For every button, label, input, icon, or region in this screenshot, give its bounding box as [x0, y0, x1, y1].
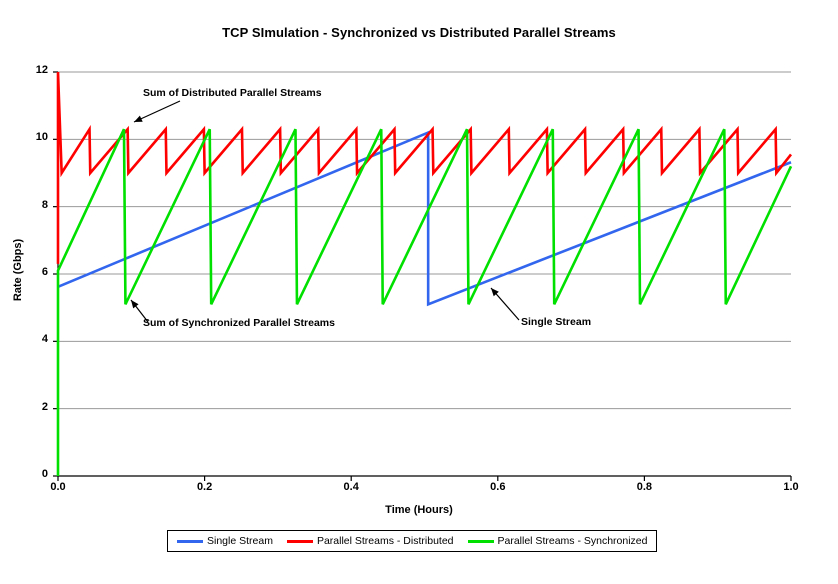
annotation-arrows: [131, 101, 519, 322]
legend-item[interactable]: Parallel Streams - Synchronized: [468, 535, 648, 547]
legend-item[interactable]: Parallel Streams - Distributed: [287, 535, 454, 547]
plot-area: [0, 0, 838, 584]
annotation-distributed: Sum of Distributed Parallel Streams: [143, 87, 322, 99]
arrow-single-stream: [491, 288, 519, 320]
legend-label: Parallel Streams - Synchronized: [498, 535, 648, 547]
annotation-single-stream: Single Stream: [521, 316, 591, 328]
legend-swatch: [177, 540, 203, 543]
arrow-distributed: [134, 101, 180, 122]
chart-root: TCP SImulation - Synchronized vs Distrib…: [0, 0, 838, 584]
chart-legend: Single StreamParallel Streams - Distribu…: [167, 530, 657, 552]
legend-label: Single Stream: [207, 535, 273, 547]
legend-swatch: [287, 540, 313, 543]
series-line: [58, 72, 791, 264]
legend-label: Parallel Streams - Distributed: [317, 535, 454, 547]
legend-item[interactable]: Single Stream: [177, 535, 273, 547]
series-line: [58, 129, 791, 476]
legend-swatch: [468, 540, 494, 543]
annotation-synchronized: Sum of Synchronized Parallel Streams: [143, 317, 335, 329]
